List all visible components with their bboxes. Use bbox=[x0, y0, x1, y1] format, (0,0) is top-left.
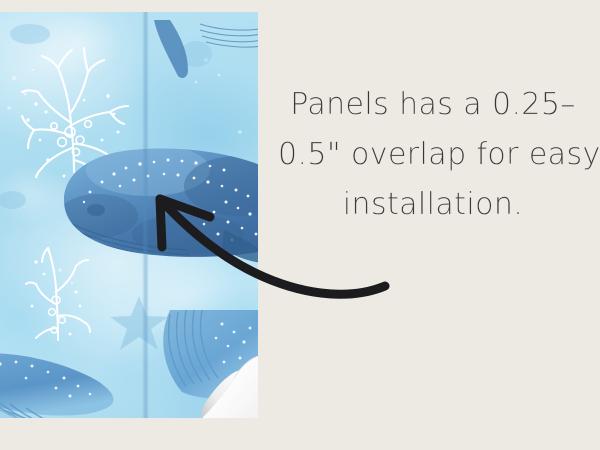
caption-line-1: Panels has a 0.25– bbox=[278, 80, 588, 130]
infographic-scene: Panels has a 0.25– 0.5" overlap for easy… bbox=[0, 0, 600, 450]
panel-overlap-seam bbox=[142, 12, 149, 418]
bubble-speckles bbox=[0, 12, 258, 418]
caption-line-2: 0.5" overlap for easy bbox=[278, 130, 588, 180]
wallpaper-panel-image bbox=[0, 12, 258, 418]
caption-line-3: installation. bbox=[278, 180, 588, 230]
caption-text-block: Panels has a 0.25– 0.5" overlap for easy… bbox=[278, 80, 588, 230]
